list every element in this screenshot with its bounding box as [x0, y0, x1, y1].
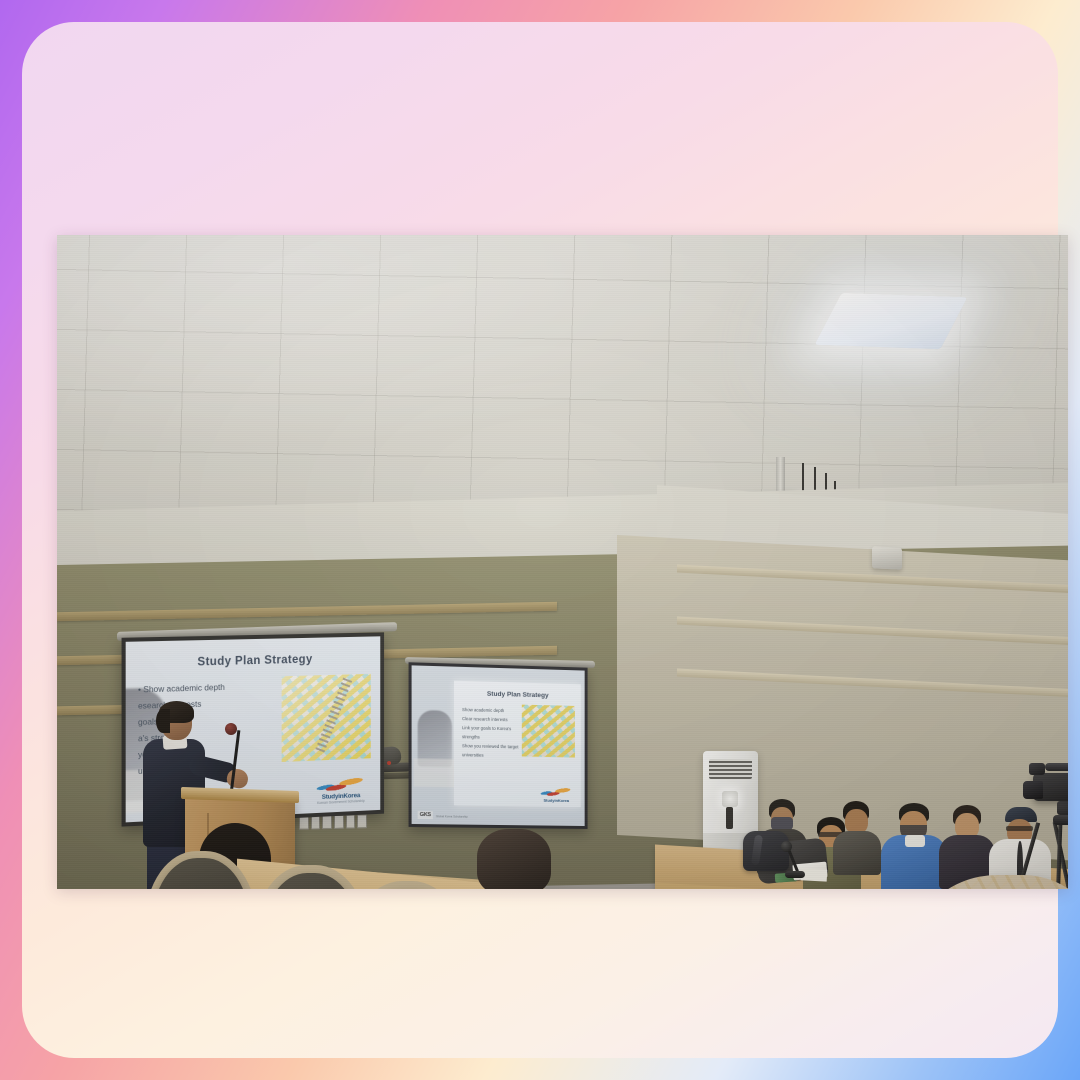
presenter-hair-side [156, 709, 170, 733]
video-camera-lens-icon [1023, 781, 1043, 799]
gks-logo-subtext: Global Korea Scholarship [436, 814, 468, 818]
card-panel: Study Plan Strategy • Show academic dept… [22, 22, 1058, 1058]
air-conditioner-vent [709, 759, 752, 779]
projection-screen-right: Study Plan Strategy Show academic depth … [409, 662, 588, 829]
slide-surface-right: Study Plan Strategy Show academic depth … [412, 665, 585, 826]
gks-logo: GKS [418, 811, 433, 819]
ceiling-light-panel [815, 293, 968, 349]
slide-title-right: Study Plan Strategy [454, 690, 581, 700]
air-conditioner-slot [726, 807, 733, 829]
gradient-border-frame: Study Plan Strategy • Show academic dept… [0, 0, 1080, 1080]
attendee-blue-suit-hair [477, 829, 551, 889]
studyinkorea-logo-left: StudyinKorea Korean Government Scholarsh… [311, 776, 371, 805]
slide-image-notebook-right [522, 705, 575, 758]
attendee-glasses-icon [1006, 826, 1033, 831]
handheld-microphone-icon [225, 723, 237, 735]
slide-content-right: Study Plan Strategy Show academic depth … [454, 681, 581, 807]
video-camera-handle [1045, 763, 1068, 771]
slide-bullet: Link your goals to Korea's strengths [462, 723, 524, 742]
slide-title-left: Study Plan Strategy [126, 652, 381, 670]
projected-podium-silhouette-right [414, 758, 456, 787]
attendee-collar [905, 835, 925, 847]
tripod-hub [1053, 815, 1068, 825]
wall-speaker-icon [872, 546, 902, 570]
seminar-photograph: Study Plan Strategy • Show academic dept… [57, 235, 1068, 889]
conference-camera-led-icon [387, 761, 391, 765]
video-camera-viewfinder-icon [1029, 763, 1045, 775]
studyinkorea-logo-right: StudyinKorea [537, 787, 576, 804]
attendee-torso [833, 831, 881, 875]
tripod-head [1057, 801, 1068, 815]
air-conditioner-display [722, 791, 738, 807]
slide-bullet: Show you reviewed the target universitie… [462, 741, 524, 760]
slide-bullets-right: Show academic depth Clear research inter… [462, 705, 524, 761]
backpack [743, 831, 789, 871]
